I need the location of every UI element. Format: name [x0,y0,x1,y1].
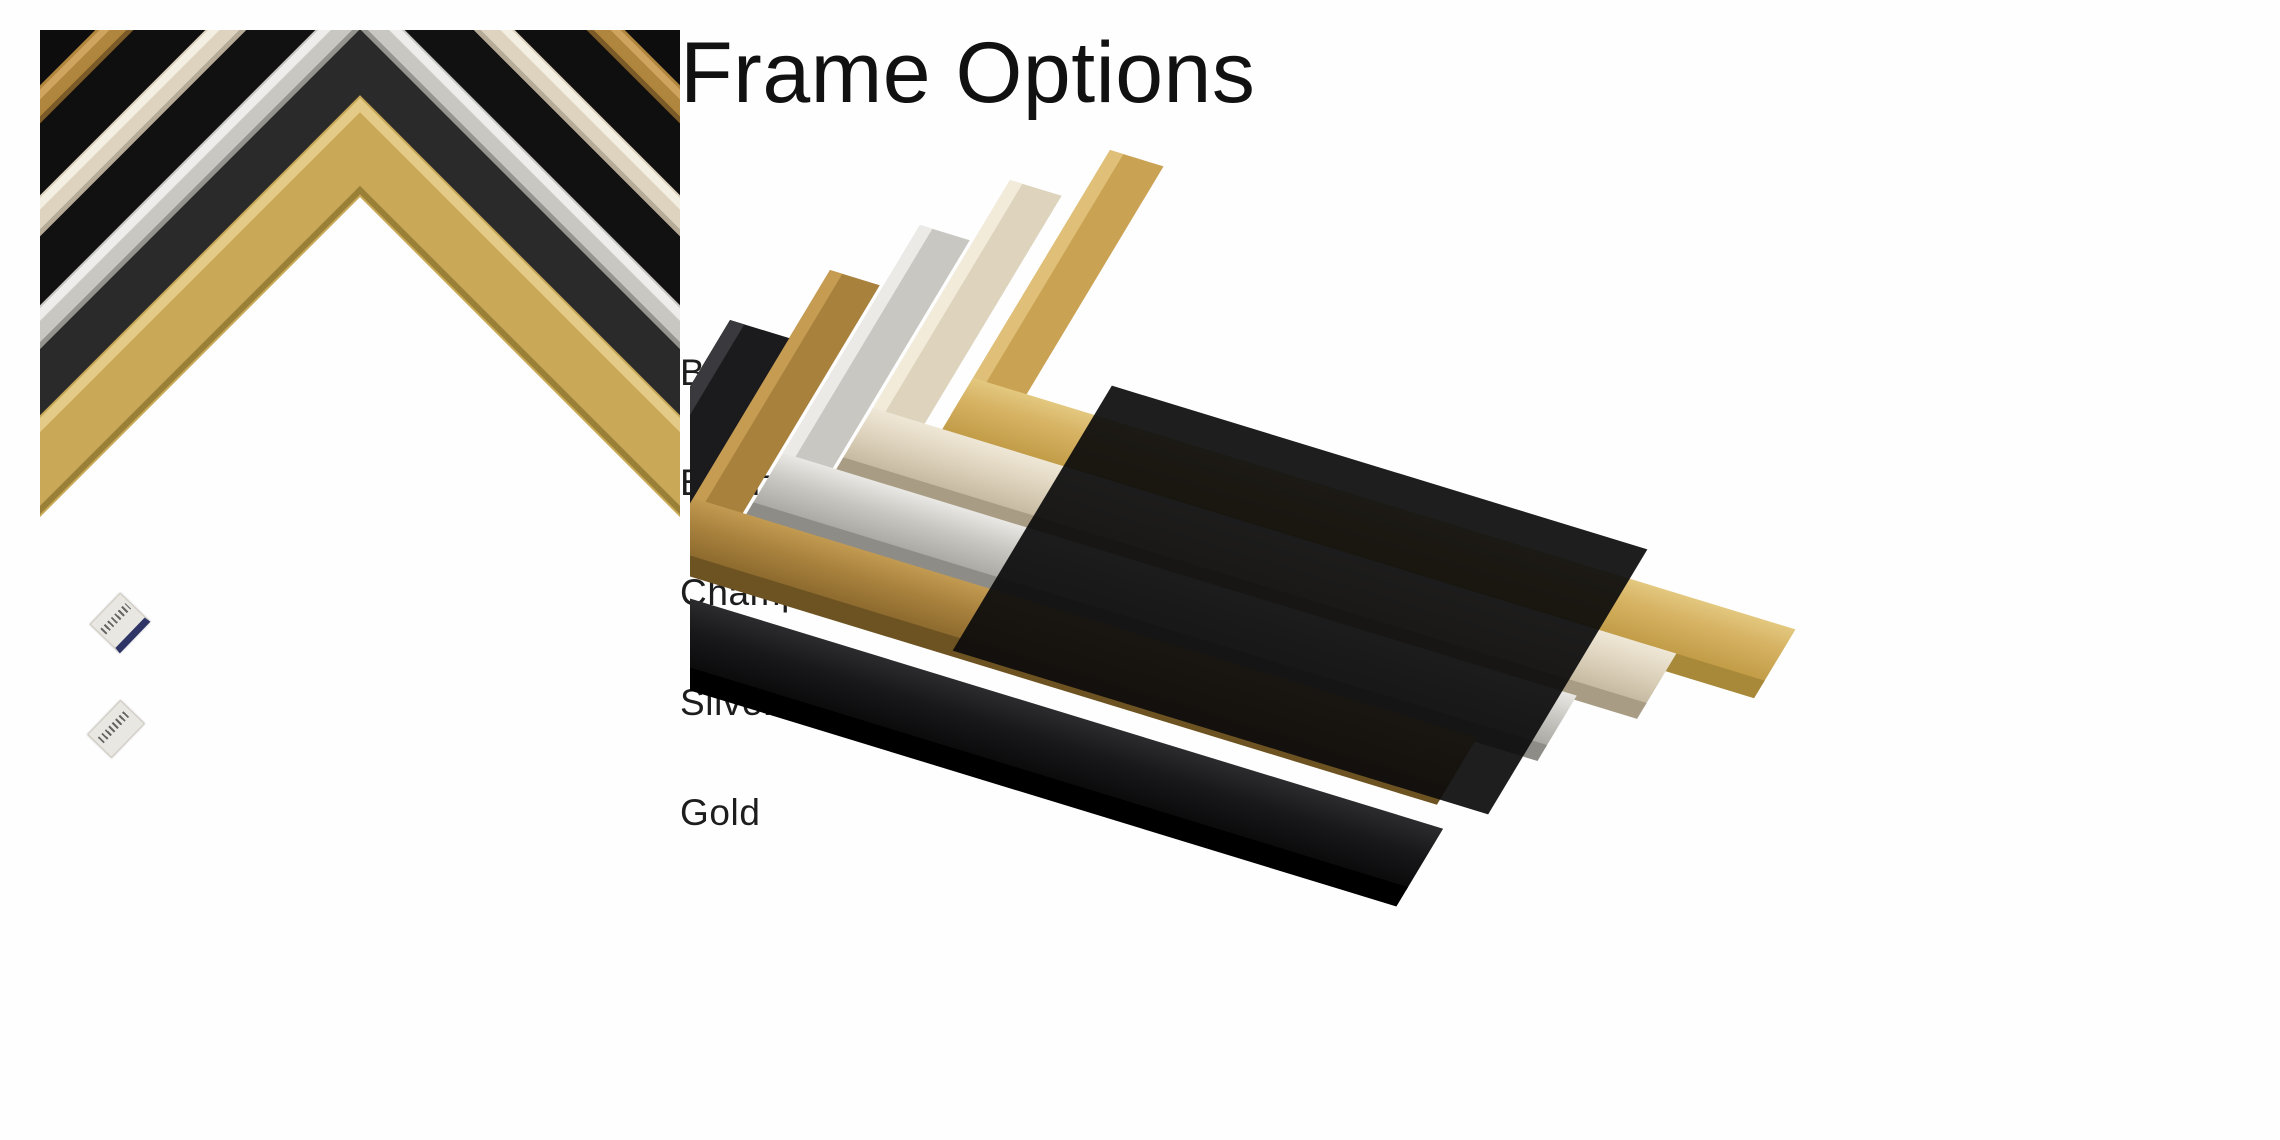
slide-canvas: Floater Frame Options [0,0,2280,1140]
frame-samples-angled-photo [690,120,2280,1140]
frame-samples-front-photo [40,30,680,1140]
